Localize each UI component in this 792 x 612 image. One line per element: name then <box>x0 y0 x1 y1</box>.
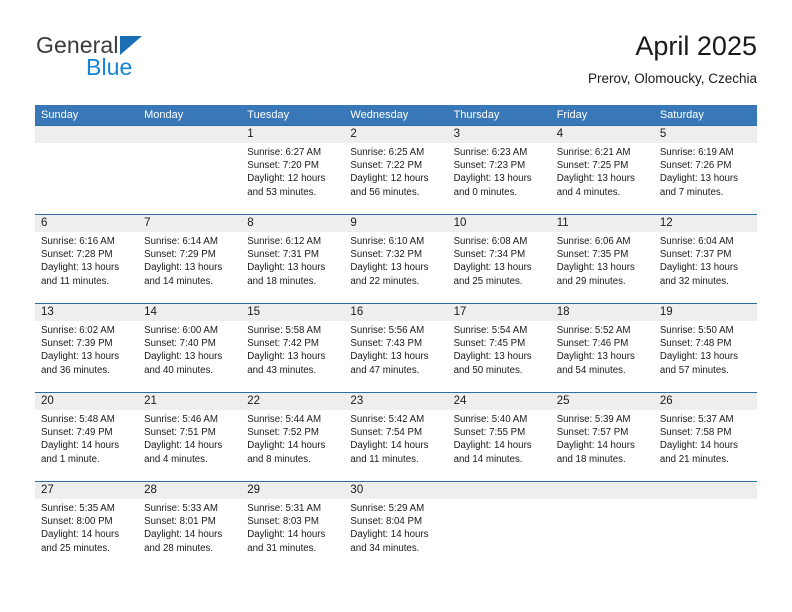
day-number: 5 <box>660 126 751 143</box>
day-number: 20 <box>41 393 132 410</box>
sunset-text: Sunset: 7:54 PM <box>350 426 441 439</box>
day-details: Sunrise: 5:42 AM Sunset: 7:54 PM Dayligh… <box>350 413 441 466</box>
day-number: 24 <box>454 393 545 410</box>
daylight-text-line2: and 28 minutes. <box>144 542 235 555</box>
day-cell[interactable] <box>654 482 757 570</box>
sunset-text: Sunset: 7:55 PM <box>454 426 545 439</box>
day-details: Sunrise: 6:14 AM Sunset: 7:29 PM Dayligh… <box>144 235 235 288</box>
day-cell[interactable]: 2 Sunrise: 6:25 AM Sunset: 7:22 PM Dayli… <box>344 126 447 214</box>
day-details: Sunrise: 6:10 AM Sunset: 7:32 PM Dayligh… <box>350 235 441 288</box>
sunset-text: Sunset: 7:25 PM <box>557 159 648 172</box>
daylight-text-line1: Daylight: 14 hours <box>454 439 545 452</box>
sunrise-text: Sunrise: 6:08 AM <box>454 235 545 248</box>
daylight-text-line1: Daylight: 13 hours <box>454 350 545 363</box>
day-cell[interactable]: 17 Sunrise: 5:54 AM Sunset: 7:45 PM Dayl… <box>448 304 551 392</box>
weekday-header-friday: Friday <box>551 109 654 122</box>
sunset-text: Sunset: 7:40 PM <box>144 337 235 350</box>
day-details: Sunrise: 5:35 AM Sunset: 8:00 PM Dayligh… <box>41 502 132 555</box>
daylight-text-line2: and 47 minutes. <box>350 364 441 377</box>
daylight-text-line2: and 56 minutes. <box>350 186 441 199</box>
daylight-text-line1: Daylight: 14 hours <box>350 528 441 541</box>
day-number: 14 <box>144 304 235 321</box>
day-details: Sunrise: 6:04 AM Sunset: 7:37 PM Dayligh… <box>660 235 751 288</box>
day-number: 6 <box>41 215 132 232</box>
daylight-text-line1: Daylight: 14 hours <box>144 439 235 452</box>
sunset-text: Sunset: 7:48 PM <box>660 337 751 350</box>
day-cell[interactable]: 20 Sunrise: 5:48 AM Sunset: 7:49 PM Dayl… <box>35 393 138 481</box>
sunrise-text: Sunrise: 5:44 AM <box>247 413 338 426</box>
day-cell[interactable]: 22 Sunrise: 5:44 AM Sunset: 7:52 PM Dayl… <box>241 393 344 481</box>
day-number: 8 <box>247 215 338 232</box>
day-cell[interactable]: 24 Sunrise: 5:40 AM Sunset: 7:55 PM Dayl… <box>448 393 551 481</box>
daylight-text-line1: Daylight: 13 hours <box>454 261 545 274</box>
weekday-header-wednesday: Wednesday <box>344 109 447 122</box>
sunrise-text: Sunrise: 6:12 AM <box>247 235 338 248</box>
sunrise-text: Sunrise: 6:16 AM <box>41 235 132 248</box>
daylight-text-line2: and 54 minutes. <box>557 364 648 377</box>
daylight-text-line1: Daylight: 14 hours <box>247 528 338 541</box>
daylight-text-line1: Daylight: 13 hours <box>660 261 751 274</box>
daylight-text-line2: and 7 minutes. <box>660 186 751 199</box>
daylight-text-line2: and 25 minutes. <box>41 542 132 555</box>
daylight-text-line1: Daylight: 13 hours <box>247 261 338 274</box>
day-cell[interactable]: 15 Sunrise: 5:58 AM Sunset: 7:42 PM Dayl… <box>241 304 344 392</box>
day-number: 1 <box>247 126 338 143</box>
location-subtitle: Prerov, Olomoucky, Czechia <box>588 71 757 87</box>
sunset-text: Sunset: 7:45 PM <box>454 337 545 350</box>
daylight-text-line1: Daylight: 13 hours <box>144 350 235 363</box>
day-number <box>144 126 235 143</box>
daylight-text-line1: Daylight: 13 hours <box>557 261 648 274</box>
day-details: Sunrise: 6:12 AM Sunset: 7:31 PM Dayligh… <box>247 235 338 288</box>
day-details: Sunrise: 5:39 AM Sunset: 7:57 PM Dayligh… <box>557 413 648 466</box>
day-cell[interactable]: 23 Sunrise: 5:42 AM Sunset: 7:54 PM Dayl… <box>344 393 447 481</box>
day-details: Sunrise: 6:00 AM Sunset: 7:40 PM Dayligh… <box>144 324 235 377</box>
day-details: Sunrise: 6:23 AM Sunset: 7:23 PM Dayligh… <box>454 146 545 199</box>
day-number: 10 <box>454 215 545 232</box>
sunrise-text: Sunrise: 5:46 AM <box>144 413 235 426</box>
page-title: April 2025 <box>588 30 757 62</box>
day-number: 15 <box>247 304 338 321</box>
day-number: 25 <box>557 393 648 410</box>
logo-text-blue: Blue <box>86 54 132 80</box>
daylight-text-line2: and 29 minutes. <box>557 275 648 288</box>
daylight-text-line2: and 14 minutes. <box>144 275 235 288</box>
daylight-text-line2: and 1 minute. <box>41 453 132 466</box>
day-details: Sunrise: 6:08 AM Sunset: 7:34 PM Dayligh… <box>454 235 545 288</box>
sunrise-text: Sunrise: 5:37 AM <box>660 413 751 426</box>
day-number: 9 <box>350 215 441 232</box>
sunset-text: Sunset: 7:35 PM <box>557 248 648 261</box>
daylight-text-line2: and 21 minutes. <box>660 453 751 466</box>
day-cell[interactable]: 25 Sunrise: 5:39 AM Sunset: 7:57 PM Dayl… <box>551 393 654 481</box>
day-number: 11 <box>557 215 648 232</box>
day-cell[interactable]: 9 Sunrise: 6:10 AM Sunset: 7:32 PM Dayli… <box>344 215 447 303</box>
day-cell[interactable] <box>35 126 138 214</box>
week-row: 20 Sunrise: 5:48 AM Sunset: 7:49 PM Dayl… <box>35 392 757 481</box>
sunrise-text: Sunrise: 5:42 AM <box>350 413 441 426</box>
weekday-header-tuesday: Tuesday <box>241 109 344 122</box>
weekday-header-row: Sunday Monday Tuesday Wednesday Thursday… <box>35 105 757 125</box>
sunrise-text: Sunrise: 5:33 AM <box>144 502 235 515</box>
day-number <box>557 482 648 499</box>
day-number <box>660 482 751 499</box>
day-details: Sunrise: 5:29 AM Sunset: 8:04 PM Dayligh… <box>350 502 441 555</box>
sunset-text: Sunset: 8:01 PM <box>144 515 235 528</box>
daylight-text-line2: and 8 minutes. <box>247 453 338 466</box>
sunrise-text: Sunrise: 6:25 AM <box>350 146 441 159</box>
daylight-text-line1: Daylight: 13 hours <box>557 172 648 185</box>
day-cell[interactable]: 27 Sunrise: 5:35 AM Sunset: 8:00 PM Dayl… <box>35 482 138 570</box>
daylight-text-line2: and 4 minutes. <box>557 186 648 199</box>
sunrise-text: Sunrise: 5:29 AM <box>350 502 441 515</box>
day-cell[interactable]: 12 Sunrise: 6:04 AM Sunset: 7:37 PM Dayl… <box>654 215 757 303</box>
sunrise-text: Sunrise: 5:40 AM <box>454 413 545 426</box>
day-details: Sunrise: 6:06 AM Sunset: 7:35 PM Dayligh… <box>557 235 648 288</box>
sunrise-text: Sunrise: 5:56 AM <box>350 324 441 337</box>
daylight-text-line2: and 50 minutes. <box>454 364 545 377</box>
sunrise-text: Sunrise: 6:27 AM <box>247 146 338 159</box>
day-cell[interactable]: 5 Sunrise: 6:19 AM Sunset: 7:26 PM Dayli… <box>654 126 757 214</box>
sunset-text: Sunset: 7:23 PM <box>454 159 545 172</box>
day-details: Sunrise: 5:33 AM Sunset: 8:01 PM Dayligh… <box>144 502 235 555</box>
daylight-text-line1: Daylight: 14 hours <box>41 439 132 452</box>
daylight-text-line2: and 25 minutes. <box>454 275 545 288</box>
day-cell[interactable] <box>551 482 654 570</box>
day-number: 21 <box>144 393 235 410</box>
title-block: April 2025 Prerov, Olomoucky, Czechia <box>588 30 757 87</box>
sunrise-text: Sunrise: 6:21 AM <box>557 146 648 159</box>
sunrise-text: Sunrise: 5:35 AM <box>41 502 132 515</box>
sunrise-text: Sunrise: 5:58 AM <box>247 324 338 337</box>
daylight-text-line1: Daylight: 12 hours <box>350 172 441 185</box>
page-header: General Blue April 2025 Prerov, Olomouck… <box>0 0 792 100</box>
sunset-text: Sunset: 7:28 PM <box>41 248 132 261</box>
day-details: Sunrise: 5:50 AM Sunset: 7:48 PM Dayligh… <box>660 324 751 377</box>
weekday-header-monday: Monday <box>138 109 241 122</box>
sunset-text: Sunset: 7:42 PM <box>247 337 338 350</box>
day-number: 12 <box>660 215 751 232</box>
daylight-text-line1: Daylight: 14 hours <box>144 528 235 541</box>
day-number: 3 <box>454 126 545 143</box>
day-number: 4 <box>557 126 648 143</box>
daylight-text-line1: Daylight: 13 hours <box>454 172 545 185</box>
sunrise-text: Sunrise: 6:04 AM <box>660 235 751 248</box>
day-details: Sunrise: 5:58 AM Sunset: 7:42 PM Dayligh… <box>247 324 338 377</box>
day-details: Sunrise: 6:19 AM Sunset: 7:26 PM Dayligh… <box>660 146 751 199</box>
sunset-text: Sunset: 7:58 PM <box>660 426 751 439</box>
day-cell[interactable]: 16 Sunrise: 5:56 AM Sunset: 7:43 PM Dayl… <box>344 304 447 392</box>
day-details: Sunrise: 5:48 AM Sunset: 7:49 PM Dayligh… <box>41 413 132 466</box>
daylight-text-line2: and 34 minutes. <box>350 542 441 555</box>
day-cell[interactable]: 7 Sunrise: 6:14 AM Sunset: 7:29 PM Dayli… <box>138 215 241 303</box>
week-row: 27 Sunrise: 5:35 AM Sunset: 8:00 PM Dayl… <box>35 481 757 570</box>
sunrise-text: Sunrise: 5:50 AM <box>660 324 751 337</box>
daylight-text-line2: and 36 minutes. <box>41 364 132 377</box>
daylight-text-line2: and 53 minutes. <box>247 186 338 199</box>
day-cell[interactable]: 19 Sunrise: 5:50 AM Sunset: 7:48 PM Dayl… <box>654 304 757 392</box>
daylight-text-line2: and 18 minutes. <box>247 275 338 288</box>
weekday-header-saturday: Saturday <box>654 109 757 122</box>
daylight-text-line1: Daylight: 14 hours <box>660 439 751 452</box>
daylight-text-line1: Daylight: 13 hours <box>144 261 235 274</box>
day-number: 28 <box>144 482 235 499</box>
daylight-text-line2: and 0 minutes. <box>454 186 545 199</box>
day-details: Sunrise: 5:56 AM Sunset: 7:43 PM Dayligh… <box>350 324 441 377</box>
day-number <box>454 482 545 499</box>
daylight-text-line1: Daylight: 13 hours <box>660 172 751 185</box>
calendar-table: Sunday Monday Tuesday Wednesday Thursday… <box>35 105 757 570</box>
day-number: 29 <box>247 482 338 499</box>
day-number: 30 <box>350 482 441 499</box>
sunset-text: Sunset: 7:37 PM <box>660 248 751 261</box>
day-number: 26 <box>660 393 751 410</box>
day-cell[interactable]: 1 Sunrise: 6:27 AM Sunset: 7:20 PM Dayli… <box>241 126 344 214</box>
daylight-text-line1: Daylight: 14 hours <box>41 528 132 541</box>
day-cell[interactable]: 14 Sunrise: 6:00 AM Sunset: 7:40 PM Dayl… <box>138 304 241 392</box>
day-cell[interactable]: 18 Sunrise: 5:52 AM Sunset: 7:46 PM Dayl… <box>551 304 654 392</box>
sunset-text: Sunset: 7:46 PM <box>557 337 648 350</box>
sunset-text: Sunset: 7:52 PM <box>247 426 338 439</box>
daylight-text-line1: Daylight: 13 hours <box>660 350 751 363</box>
sunrise-text: Sunrise: 6:10 AM <box>350 235 441 248</box>
sunset-text: Sunset: 7:51 PM <box>144 426 235 439</box>
day-details: Sunrise: 5:37 AM Sunset: 7:58 PM Dayligh… <box>660 413 751 466</box>
daylight-text-line2: and 18 minutes. <box>557 453 648 466</box>
day-number: 19 <box>660 304 751 321</box>
day-details: Sunrise: 6:21 AM Sunset: 7:25 PM Dayligh… <box>557 146 648 199</box>
sunrise-text: Sunrise: 5:48 AM <box>41 413 132 426</box>
sunrise-text: Sunrise: 5:39 AM <box>557 413 648 426</box>
day-details: Sunrise: 6:27 AM Sunset: 7:20 PM Dayligh… <box>247 146 338 199</box>
sunrise-text: Sunrise: 6:14 AM <box>144 235 235 248</box>
daylight-text-line2: and 22 minutes. <box>350 275 441 288</box>
day-cell[interactable]: 29 Sunrise: 5:31 AM Sunset: 8:03 PM Dayl… <box>241 482 344 570</box>
day-details: Sunrise: 5:44 AM Sunset: 7:52 PM Dayligh… <box>247 413 338 466</box>
daylight-text-line2: and 57 minutes. <box>660 364 751 377</box>
day-details: Sunrise: 5:52 AM Sunset: 7:46 PM Dayligh… <box>557 324 648 377</box>
day-cell[interactable] <box>138 126 241 214</box>
day-number: 18 <box>557 304 648 321</box>
daylight-text-line1: Daylight: 13 hours <box>41 261 132 274</box>
day-number: 23 <box>350 393 441 410</box>
sunset-text: Sunset: 7:20 PM <box>247 159 338 172</box>
day-details: Sunrise: 5:40 AM Sunset: 7:55 PM Dayligh… <box>454 413 545 466</box>
day-number: 22 <box>247 393 338 410</box>
sunrise-text: Sunrise: 6:00 AM <box>144 324 235 337</box>
day-cell[interactable]: 4 Sunrise: 6:21 AM Sunset: 7:25 PM Dayli… <box>551 126 654 214</box>
day-number <box>41 126 132 143</box>
day-details: Sunrise: 5:46 AM Sunset: 7:51 PM Dayligh… <box>144 413 235 466</box>
daylight-text-line2: and 4 minutes. <box>144 453 235 466</box>
daylight-text-line1: Daylight: 13 hours <box>557 350 648 363</box>
daylight-text-line2: and 32 minutes. <box>660 275 751 288</box>
daylight-text-line1: Daylight: 13 hours <box>247 350 338 363</box>
daylight-text-line2: and 11 minutes. <box>350 453 441 466</box>
sunset-text: Sunset: 8:00 PM <box>41 515 132 528</box>
logo-triangle-icon <box>120 36 142 55</box>
daylight-text-line1: Daylight: 14 hours <box>247 439 338 452</box>
sunset-text: Sunset: 8:03 PM <box>247 515 338 528</box>
sunrise-text: Sunrise: 6:23 AM <box>454 146 545 159</box>
day-cell[interactable]: 8 Sunrise: 6:12 AM Sunset: 7:31 PM Dayli… <box>241 215 344 303</box>
daylight-text-line2: and 11 minutes. <box>41 275 132 288</box>
day-number: 2 <box>350 126 441 143</box>
calendar-page: General Blue April 2025 Prerov, Olomouck… <box>0 0 792 612</box>
day-details: Sunrise: 5:54 AM Sunset: 7:45 PM Dayligh… <box>454 324 545 377</box>
sunrise-text: Sunrise: 5:54 AM <box>454 324 545 337</box>
daylight-text-line2: and 14 minutes. <box>454 453 545 466</box>
general-blue-logo[interactable]: General Blue <box>36 32 256 86</box>
day-number: 27 <box>41 482 132 499</box>
day-cell[interactable]: 30 Sunrise: 5:29 AM Sunset: 8:04 PM Dayl… <box>344 482 447 570</box>
daylight-text-line1: Daylight: 13 hours <box>350 350 441 363</box>
day-number: 7 <box>144 215 235 232</box>
weekday-header-sunday: Sunday <box>35 109 138 122</box>
day-cell[interactable]: 10 Sunrise: 6:08 AM Sunset: 7:34 PM Dayl… <box>448 215 551 303</box>
day-cell[interactable]: 11 Sunrise: 6:06 AM Sunset: 7:35 PM Dayl… <box>551 215 654 303</box>
week-row: 6 Sunrise: 6:16 AM Sunset: 7:28 PM Dayli… <box>35 214 757 303</box>
daylight-text-line1: Daylight: 13 hours <box>350 261 441 274</box>
day-cell[interactable]: 26 Sunrise: 5:37 AM Sunset: 7:58 PM Dayl… <box>654 393 757 481</box>
weekday-header-thursday: Thursday <box>448 109 551 122</box>
sunset-text: Sunset: 7:29 PM <box>144 248 235 261</box>
sunset-text: Sunset: 7:49 PM <box>41 426 132 439</box>
sunset-text: Sunset: 7:22 PM <box>350 159 441 172</box>
sunset-text: Sunset: 7:39 PM <box>41 337 132 350</box>
sunrise-text: Sunrise: 6:06 AM <box>557 235 648 248</box>
sunrise-text: Sunrise: 6:19 AM <box>660 146 751 159</box>
sunset-text: Sunset: 8:04 PM <box>350 515 441 528</box>
day-cell[interactable]: 28 Sunrise: 5:33 AM Sunset: 8:01 PM Dayl… <box>138 482 241 570</box>
day-number: 17 <box>454 304 545 321</box>
daylight-text-line1: Daylight: 14 hours <box>557 439 648 452</box>
daylight-text-line1: Daylight: 12 hours <box>247 172 338 185</box>
day-details: Sunrise: 5:31 AM Sunset: 8:03 PM Dayligh… <box>247 502 338 555</box>
sunset-text: Sunset: 7:57 PM <box>557 426 648 439</box>
daylight-text-line2: and 31 minutes. <box>247 542 338 555</box>
week-row: 13 Sunrise: 6:02 AM Sunset: 7:39 PM Dayl… <box>35 303 757 392</box>
daylight-text-line1: Daylight: 14 hours <box>350 439 441 452</box>
sunset-text: Sunset: 7:43 PM <box>350 337 441 350</box>
sunset-text: Sunset: 7:34 PM <box>454 248 545 261</box>
sunset-text: Sunset: 7:31 PM <box>247 248 338 261</box>
day-details: Sunrise: 6:02 AM Sunset: 7:39 PM Dayligh… <box>41 324 132 377</box>
day-details: Sunrise: 6:16 AM Sunset: 7:28 PM Dayligh… <box>41 235 132 288</box>
day-cell[interactable]: 3 Sunrise: 6:23 AM Sunset: 7:23 PM Dayli… <box>448 126 551 214</box>
sunset-text: Sunset: 7:32 PM <box>350 248 441 261</box>
sunrise-text: Sunrise: 5:31 AM <box>247 502 338 515</box>
day-cell[interactable]: 21 Sunrise: 5:46 AM Sunset: 7:51 PM Dayl… <box>138 393 241 481</box>
daylight-text-line2: and 43 minutes. <box>247 364 338 377</box>
day-cell[interactable]: 6 Sunrise: 6:16 AM Sunset: 7:28 PM Dayli… <box>35 215 138 303</box>
sunrise-text: Sunrise: 6:02 AM <box>41 324 132 337</box>
sunset-text: Sunset: 7:26 PM <box>660 159 751 172</box>
day-details: Sunrise: 6:25 AM Sunset: 7:22 PM Dayligh… <box>350 146 441 199</box>
day-number: 13 <box>41 304 132 321</box>
week-row: 1 Sunrise: 6:27 AM Sunset: 7:20 PM Dayli… <box>35 125 757 214</box>
daylight-text-line2: and 40 minutes. <box>144 364 235 377</box>
day-cell[interactable] <box>448 482 551 570</box>
daylight-text-line1: Daylight: 13 hours <box>41 350 132 363</box>
day-number: 16 <box>350 304 441 321</box>
sunrise-text: Sunrise: 5:52 AM <box>557 324 648 337</box>
day-cell[interactable]: 13 Sunrise: 6:02 AM Sunset: 7:39 PM Dayl… <box>35 304 138 392</box>
